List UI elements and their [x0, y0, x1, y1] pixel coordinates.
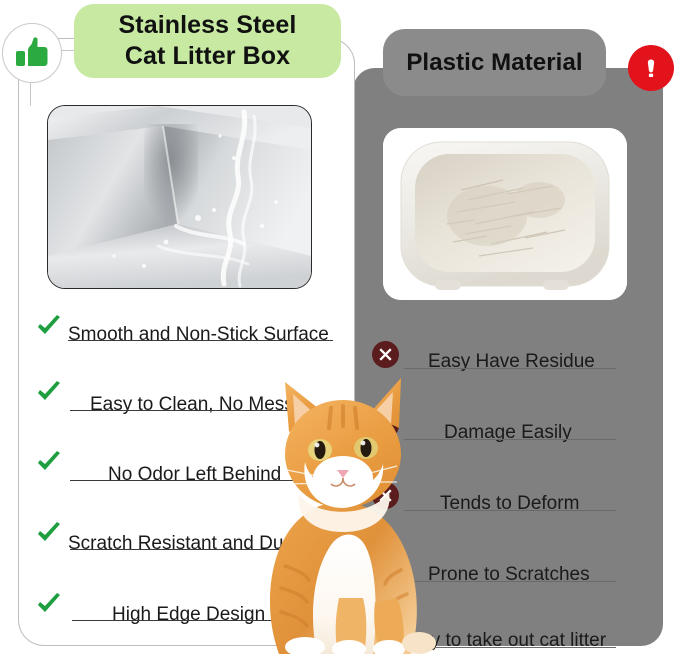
feature-label: Smooth and Non-Stick Surface — [68, 324, 329, 348]
orange-tabby-cat-illustration — [243, 366, 439, 654]
thumbs-up-badge — [2, 23, 62, 83]
cat-photo — [243, 366, 439, 654]
check-icon — [36, 380, 62, 406]
plastic-litter-box-illustration — [383, 128, 627, 300]
drawback-label: Damage Easily — [444, 422, 572, 446]
check-icon — [36, 450, 62, 476]
drawback-label: Prone to Scratches — [428, 564, 590, 588]
drawback-row: Easy Have Residue — [428, 337, 595, 375]
alert-badge — [628, 45, 674, 91]
feature-underline — [68, 340, 333, 341]
stainless-title-line-1: Stainless Steel — [119, 10, 297, 41]
plastic-product-photo — [383, 128, 627, 300]
drawback-row: Prone to Scratches — [428, 550, 590, 588]
stainless-steel-product-photo — [47, 105, 312, 289]
badge-connector-vertical — [30, 80, 31, 106]
plastic-material-title-pill: Plastic Material — [383, 29, 606, 96]
exclamation-icon — [638, 55, 664, 81]
stainless-steel-title-pill: Stainless Steel Cat Litter Box — [74, 4, 341, 78]
thumbs-up-icon — [13, 34, 51, 72]
check-icon — [36, 592, 62, 618]
comparison-infographic: Stainless Steel Cat Litter Box Plastic M… — [0, 0, 679, 671]
drawback-label: Easy Have Residue — [428, 351, 595, 375]
check-icon — [36, 314, 62, 340]
stainless-title-line-2: Cat Litter Box — [119, 41, 297, 72]
drawback-row: Tends to Deform — [440, 479, 579, 517]
plastic-title-text: Plastic Material — [406, 49, 582, 77]
check-icon — [36, 521, 62, 547]
drawback-row: Damage Easily — [444, 408, 572, 446]
stainless-steel-litter-box-illustration — [48, 106, 311, 288]
feature-row: Smooth and Non-Stick Surface — [68, 310, 329, 348]
drawback-label: Tends to Deform — [440, 493, 579, 517]
x-icon — [372, 341, 399, 368]
